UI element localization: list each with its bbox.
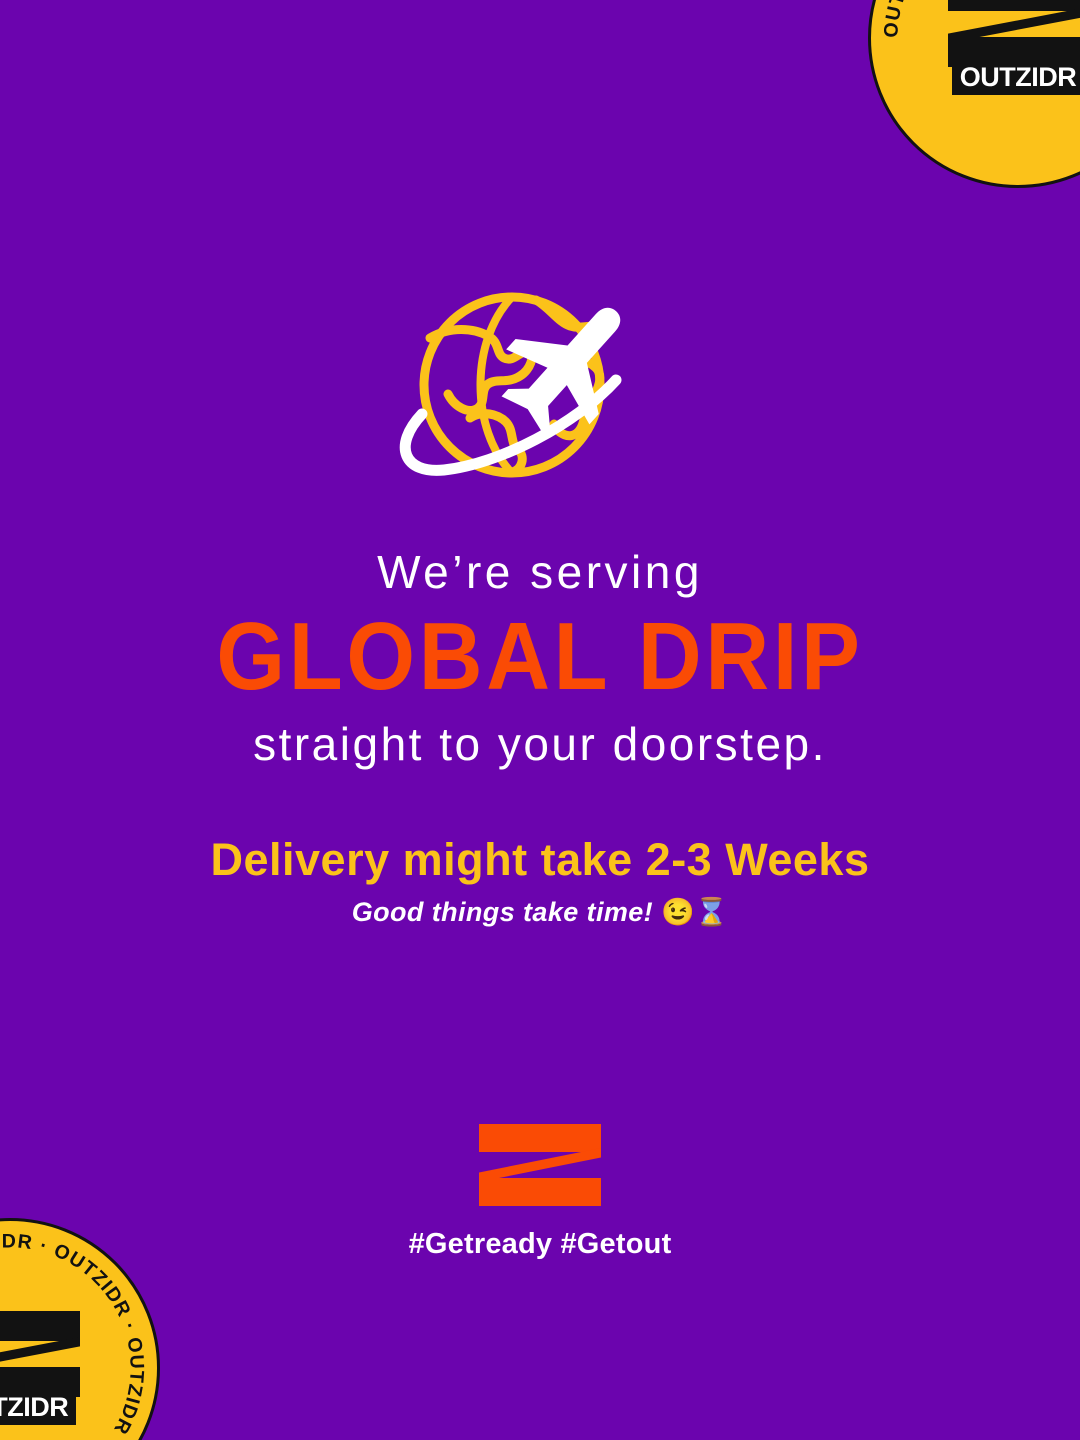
- z-bottom-bar: [479, 1178, 601, 1206]
- footer-block: #Getready #Getout: [0, 1124, 1080, 1261]
- brand-z-logo-icon: [0, 1311, 80, 1397]
- brand-badge-top-right: OUTZIDR · OUTZIDR · OUTZIDR · OUTZIDR · …: [868, 0, 1080, 188]
- poster-canvas: OUTZIDR · OUTZIDR · OUTZIDR · OUTZIDR · …: [0, 0, 1080, 1440]
- badge-core-tr: OUTZIDR: [930, 0, 1080, 95]
- z-top-bar: [0, 1311, 80, 1341]
- reassurance-text: Good things take time!: [352, 897, 653, 927]
- copy-block: We’re serving GLOBAL DRIP straight to yo…: [0, 548, 1080, 928]
- z-diagonal: [479, 1148, 601, 1182]
- subhead-text: straight to your doorstep.: [0, 720, 1080, 768]
- brand-z-logo-icon: [479, 1124, 601, 1206]
- z-top-bar: [479, 1124, 601, 1152]
- hero-illustration: [0, 278, 1080, 503]
- headline-text: GLOBAL DRIP: [43, 608, 1037, 706]
- globe-with-airplane-icon: [370, 278, 710, 503]
- z-top-bar: [948, 0, 1080, 11]
- hourglass-icon: ⌛: [695, 897, 729, 927]
- z-bottom-bar: [948, 37, 1080, 67]
- delivery-note-text: Delivery might take 2-3 Weeks: [0, 835, 1080, 885]
- eyebrow-text: We’re serving: [0, 548, 1080, 596]
- hashtags-text: #Getready #Getout: [409, 1228, 672, 1261]
- z-bottom-bar: [0, 1367, 80, 1397]
- reassurance-line: Good things take time! 😉⌛: [0, 896, 1080, 928]
- wink-face-icon: 😉: [661, 897, 695, 927]
- brand-z-logo-icon: [948, 0, 1080, 67]
- badge-core-bl: OUTZIDR: [0, 1311, 98, 1425]
